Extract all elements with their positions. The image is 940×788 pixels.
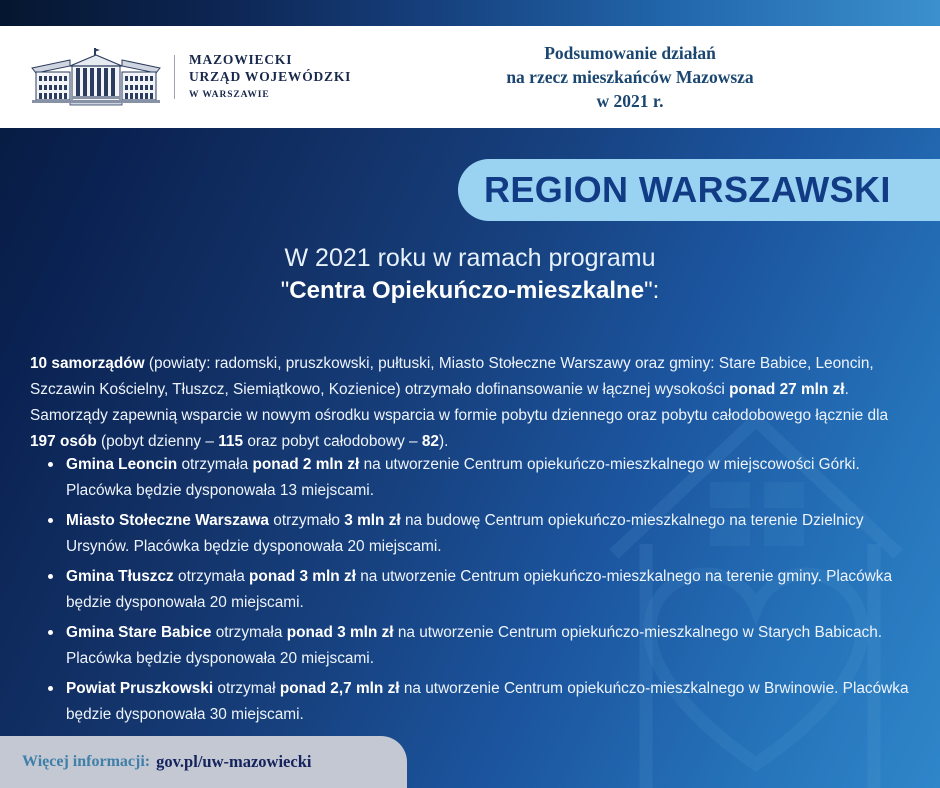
header-title: Podsumowanie działań na rzecz mieszkańcó… (360, 41, 940, 113)
grant-amount: ponad 3 mln zł (249, 568, 356, 585)
intro-day-count: 115 (218, 433, 243, 450)
region-banner: REGION WARSZAWSKI (458, 159, 940, 221)
grant-verb: otrzymała (177, 456, 252, 473)
intro-text-4: oraz pobyt całodobowy – (243, 433, 422, 450)
intro-text-5: ). (439, 433, 448, 450)
subtitle-quote-close: ": (644, 277, 659, 304)
logo-divider (174, 55, 175, 99)
logo-line-1: MAZOWIECKI (189, 51, 351, 68)
list-item: Powiat Pruszkowski otrzymał ponad 2,7 ml… (38, 676, 918, 727)
list-item: Gmina Leoncin otrzymała ponad 2 mln zł n… (38, 452, 918, 503)
list-item: Gmina Stare Babice otrzymała ponad 3 mln… (38, 620, 918, 671)
footer-label: Więcej informacji: (22, 753, 150, 771)
grant-entity: Powiat Pruszkowski (66, 680, 213, 697)
subtitle-line-2: "Centra Opiekuńczo-mieszkalne": (0, 274, 940, 308)
intro-fullday-count: 82 (422, 433, 439, 450)
intro-total-amount: ponad 27 mln zł (729, 381, 844, 398)
subtitle-program-name: Centra Opiekuńczo-mieszkalne (289, 277, 644, 304)
grant-verb: otrzymała (211, 624, 286, 641)
logo-line-2: URZĄD WOJEWÓDZKI (189, 68, 351, 85)
subtitle-line-1: W 2021 roku w ramach programu (0, 242, 940, 274)
region-banner-label: REGION WARSZAWSKI (484, 169, 891, 211)
header-title-line-2: na rzecz mieszkańców Mazowsza (360, 65, 900, 89)
grant-list: Gmina Leoncin otrzymała ponad 2 mln zł n… (38, 452, 918, 732)
grant-amount: ponad 2,7 mln zł (280, 680, 400, 697)
organization-logo: MAZOWIECKI URZĄD WOJEWÓDZKI W WARSZAWIE (30, 46, 360, 108)
intro-count: 10 samorządów (30, 355, 145, 372)
grant-verb: otrzymała (174, 568, 249, 585)
footer-bar: Więcej informacji: gov.pl/uw-mazowiecki (0, 736, 407, 788)
grant-entity: Gmina Tłuszcz (66, 568, 174, 585)
grant-verb: otrzymał (213, 680, 280, 697)
header-title-line-3: w 2021 r. (360, 89, 900, 113)
grant-amount: 3 mln zł (344, 512, 400, 529)
program-subtitle: W 2021 roku w ramach programu "Centra Op… (0, 242, 940, 308)
grant-amount: ponad 3 mln zł (287, 624, 394, 641)
grant-entity: Gmina Leoncin (66, 456, 177, 473)
intro-text-3: (pobyt dzienny – (97, 433, 219, 450)
intro-paragraph: 10 samorządów (powiaty: radomski, pruszk… (30, 351, 912, 455)
grant-amount: ponad 2 mln zł (252, 456, 359, 473)
logo-wordmark: MAZOWIECKI URZĄD WOJEWÓDZKI W WARSZAWIE (189, 51, 351, 104)
government-building-icon (30, 46, 162, 108)
header-title-line-1: Podsumowanie działań (360, 41, 900, 65)
grant-entity: Miasto Stołeczne Warszawa (66, 512, 269, 529)
footer-url[interactable]: gov.pl/uw-mazowiecki (156, 752, 311, 772)
header-band: MAZOWIECKI URZĄD WOJEWÓDZKI W WARSZAWIE … (0, 26, 940, 128)
subtitle-quote-open: " (281, 277, 290, 304)
intro-total-persons: 197 osób (30, 433, 97, 450)
list-item: Miasto Stołeczne Warszawa otrzymało 3 ml… (38, 508, 918, 559)
infographic-poster: MAZOWIECKI URZĄD WOJEWÓDZKI W WARSZAWIE … (0, 0, 940, 788)
grant-verb: otrzymało (269, 512, 344, 529)
logo-line-3: W WARSZAWIE (189, 87, 351, 104)
grant-entity: Gmina Stare Babice (66, 624, 211, 641)
list-item: Gmina Tłuszcz otrzymała ponad 3 mln zł n… (38, 564, 918, 615)
top-accent-strip (0, 0, 940, 26)
